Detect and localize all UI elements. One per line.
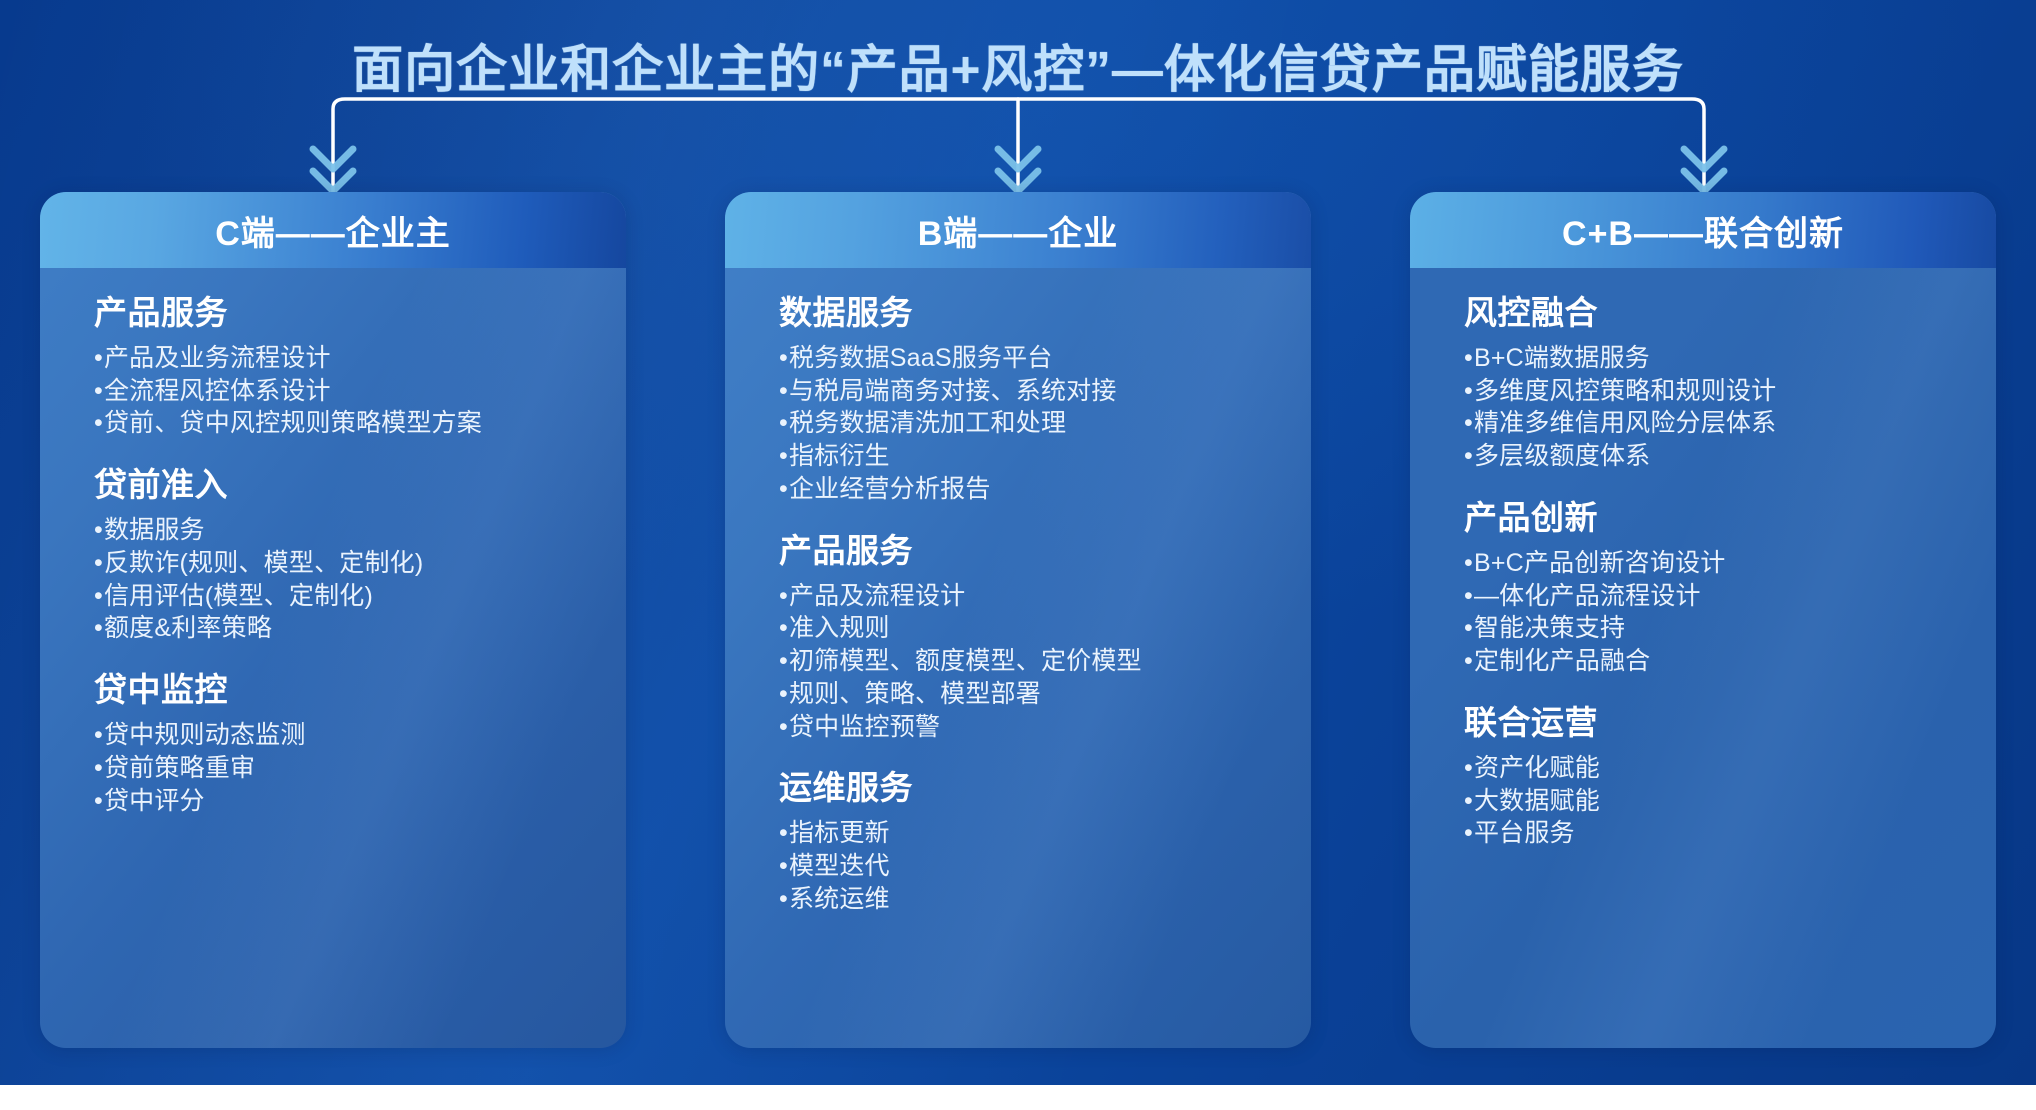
list-item: •B+C端数据服务 [1464, 342, 1996, 375]
list-item: •初筛模型、额度模型、定价模型 [779, 645, 1311, 678]
list-item-label: 额度&利率策略 [104, 614, 272, 642]
bullet-dot: • [94, 375, 103, 408]
list-item-label: 贷中规则动态监测 [104, 721, 306, 749]
list-item: •贷中评分 [94, 785, 626, 818]
bullet-dot: • [1464, 547, 1473, 580]
group-product-service: 产品服务 •产品及业务流程设计 •全流程风控体系设计 •贷前、贷中风控规则策略模… [94, 294, 626, 440]
card-header-title: B端——企业 [918, 206, 1119, 255]
list-item: •贷中规则动态监测 [94, 719, 626, 752]
card-b-end[interactable]: B端——企业 数据服务 •税务数据SaaS服务平台 •与税局端商务对接、系统对接… [725, 192, 1311, 1048]
bullet-dot: • [1464, 580, 1473, 613]
bullet-dot: • [779, 678, 788, 711]
list-item-label: 贷前策略重审 [104, 754, 255, 782]
bullet-dot: • [779, 407, 788, 440]
list-item: •全流程风控体系设计 [94, 375, 626, 408]
list-item: •规则、策略、模型部署 [779, 678, 1311, 711]
bullet-dot: • [94, 342, 103, 375]
list-item: •平台服务 [1464, 817, 1996, 850]
list-item: •反欺诈(规则、模型、定制化) [94, 547, 626, 580]
bullet-dot: • [1464, 645, 1473, 678]
list-item-label: —体化产品流程设计 [1474, 582, 1701, 610]
group-title: 产品服务 [94, 294, 626, 333]
list-item-label: 贷中评分 [104, 787, 205, 815]
group-pre-loan-access: 贷前准入 •数据服务 •反欺诈(规则、模型、定制化) •信用评估(模型、定制化)… [94, 466, 626, 645]
list-item-label: 多层级额度体系 [1474, 442, 1650, 470]
list-item: •B+C产品创新咨询设计 [1464, 547, 1996, 580]
list-item-label: 智能决策支持 [1474, 614, 1625, 642]
list-item: •智能决策支持 [1464, 612, 1996, 645]
list-item: •系统运维 [779, 883, 1311, 916]
group-ops-service: 运维服务 •指标更新 •模型迭代 •系统运维 [779, 769, 1311, 915]
card-c-plus-b[interactable]: C+B——联合创新 风控融合 •B+C端数据服务 •多维度风控策略和规则设计 •… [1410, 192, 1996, 1048]
list-item-label: 信用评估(模型、定制化) [104, 582, 373, 610]
list-item-label: B+C产品创新咨询设计 [1474, 549, 1726, 577]
list-item: •—体化产品流程设计 [1464, 580, 1996, 613]
list-item-label: 资产化赋能 [1474, 754, 1600, 782]
bullet-dot: • [779, 817, 788, 850]
list-item-label: 数据服务 [104, 516, 205, 544]
list-item: •贷中监控预警 [779, 711, 1311, 744]
list-item: •产品及流程设计 [779, 580, 1311, 613]
list-item: •指标衍生 [779, 440, 1311, 473]
list-item-label: 税务数据SaaS服务平台 [789, 344, 1053, 372]
group-data-service: 数据服务 •税务数据SaaS服务平台 •与税局端商务对接、系统对接 •税务数据清… [779, 294, 1311, 506]
bullet-dot: • [779, 711, 788, 744]
bullet-dot: • [94, 785, 103, 818]
card-header-title: C+B——联合创新 [1562, 206, 1844, 255]
card-body-c-end: 产品服务 •产品及业务流程设计 •全流程风控体系设计 •贷前、贷中风控规则策略模… [40, 268, 626, 817]
bottom-white-strip [0, 1085, 2036, 1110]
bullet-dot: • [779, 473, 788, 506]
list-item: •精准多维信用风险分层体系 [1464, 407, 1996, 440]
list-item-label: 企业经营分析报告 [789, 475, 991, 503]
list-item: •定制化产品融合 [1464, 645, 1996, 678]
group-title: 贷中监控 [94, 671, 626, 710]
list-item-label: 税务数据清洗加工和处理 [789, 409, 1066, 437]
bullet-list: •数据服务 •反欺诈(规则、模型、定制化) •信用评估(模型、定制化) •额度&… [94, 514, 626, 645]
bullet-dot: • [94, 752, 103, 785]
list-item-label: 与税局端商务对接、系统对接 [789, 377, 1117, 405]
list-item: •额度&利率策略 [94, 612, 626, 645]
bullet-list: •指标更新 •模型迭代 •系统运维 [779, 817, 1311, 915]
list-item-label: B+C端数据服务 [1474, 344, 1650, 372]
card-header-title: C端——企业主 [215, 206, 451, 255]
list-item: •准入规则 [779, 612, 1311, 645]
list-item-label: 反欺诈(规则、模型、定制化) [104, 549, 423, 577]
list-item-label: 指标更新 [789, 819, 890, 847]
list-item: •贷前、贷中风控规则策略模型方案 [94, 407, 626, 440]
group-title: 产品服务 [779, 532, 1311, 571]
list-item-label: 精准多维信用风险分层体系 [1474, 409, 1776, 437]
bullet-dot: • [94, 612, 103, 645]
bullet-dot: • [94, 580, 103, 613]
card-header-c-end: C端——企业主 [40, 192, 626, 268]
list-item: •指标更新 [779, 817, 1311, 850]
bullet-dot: • [779, 850, 788, 883]
bullet-dot: • [1464, 407, 1473, 440]
list-item: •数据服务 [94, 514, 626, 547]
card-header-b-end: B端——企业 [725, 192, 1311, 268]
list-item-label: 全流程风控体系设计 [104, 377, 331, 405]
list-item-label: 初筛模型、额度模型、定价模型 [789, 647, 1142, 675]
bullet-list: •B+C产品创新咨询设计 •—体化产品流程设计 •智能决策支持 •定制化产品融合 [1464, 547, 1996, 678]
bullet-dot: • [779, 440, 788, 473]
bullet-dot: • [779, 580, 788, 613]
bullet-list: •B+C端数据服务 •多维度风控策略和规则设计 •精准多维信用风险分层体系 •多… [1464, 342, 1996, 473]
bullet-dot: • [1464, 342, 1473, 375]
list-item: •多层级额度体系 [1464, 440, 1996, 473]
bullet-dot: • [779, 883, 788, 916]
group-title: 运维服务 [779, 769, 1311, 808]
group-joint-operation: 联合运营 •资产化赋能 •大数据赋能 •平台服务 [1464, 704, 1996, 850]
slide-root: 面向企业和企业主的“产品+风控”—体化信贷产品赋能服务 [0, 0, 2036, 1110]
group-title: 风控融合 [1464, 294, 1996, 333]
card-c-end[interactable]: C端——企业主 产品服务 •产品及业务流程设计 •全流程风控体系设计 •贷前、贷… [40, 192, 626, 1048]
bullet-dot: • [1464, 612, 1473, 645]
bullet-dot: • [1464, 785, 1473, 818]
list-item: •模型迭代 [779, 850, 1311, 883]
list-item-label: 模型迭代 [789, 852, 890, 880]
list-item: •大数据赋能 [1464, 785, 1996, 818]
list-item-label: 产品及流程设计 [789, 582, 965, 610]
list-item-label: 平台服务 [1474, 819, 1575, 847]
bullet-dot: • [94, 514, 103, 547]
list-item-label: 贷中监控预警 [789, 713, 940, 741]
bullet-dot: • [1464, 752, 1473, 785]
list-item: •贷前策略重审 [94, 752, 626, 785]
group-in-loan-monitoring: 贷中监控 •贷中规则动态监测 •贷前策略重审 •贷中评分 [94, 671, 626, 817]
bullet-dot: • [94, 719, 103, 752]
bullet-list: •税务数据SaaS服务平台 •与税局端商务对接、系统对接 •税务数据清洗加工和处… [779, 342, 1311, 506]
card-header-c-plus-b: C+B——联合创新 [1410, 192, 1996, 268]
list-item: •信用评估(模型、定制化) [94, 580, 626, 613]
card-body-c-plus-b: 风控融合 •B+C端数据服务 •多维度风控策略和规则设计 •精准多维信用风险分层… [1410, 268, 1996, 850]
list-item: •多维度风控策略和规则设计 [1464, 375, 1996, 408]
bullet-dot: • [94, 407, 103, 440]
list-item-label: 定制化产品融合 [1474, 647, 1650, 675]
bullet-list: •资产化赋能 •大数据赋能 •平台服务 [1464, 752, 1996, 850]
group-title: 贷前准入 [94, 466, 626, 505]
card-body-b-end: 数据服务 •税务数据SaaS服务平台 •与税局端商务对接、系统对接 •税务数据清… [725, 268, 1311, 916]
bullet-dot: • [1464, 817, 1473, 850]
list-item: •资产化赋能 [1464, 752, 1996, 785]
list-item: •税务数据SaaS服务平台 [779, 342, 1311, 375]
list-item-label: 贷前、贷中风控规则策略模型方案 [104, 409, 482, 437]
list-item-label: 系统运维 [789, 885, 890, 913]
bullet-dot: • [779, 342, 788, 375]
bullet-list: •产品及流程设计 •准入规则 •初筛模型、额度模型、定价模型 •规则、策略、模型… [779, 580, 1311, 744]
group-title: 数据服务 [779, 294, 1311, 333]
group-product-service: 产品服务 •产品及流程设计 •准入规则 •初筛模型、额度模型、定价模型 •规则、… [779, 532, 1311, 744]
bullet-dot: • [779, 375, 788, 408]
cards-container: C端——企业主 产品服务 •产品及业务流程设计 •全流程风控体系设计 •贷前、贷… [0, 192, 2036, 1052]
bullet-list: •产品及业务流程设计 •全流程风控体系设计 •贷前、贷中风控规则策略模型方案 [94, 342, 626, 440]
list-item: •企业经营分析报告 [779, 473, 1311, 506]
list-item: •税务数据清洗加工和处理 [779, 407, 1311, 440]
list-item-label: 准入规则 [789, 614, 890, 642]
list-item: •产品及业务流程设计 [94, 342, 626, 375]
list-item-label: 多维度风控策略和规则设计 [1474, 377, 1776, 405]
list-item-label: 指标衍生 [789, 442, 890, 470]
list-item-label: 大数据赋能 [1474, 787, 1600, 815]
list-item-label: 产品及业务流程设计 [104, 344, 331, 372]
bullet-dot: • [779, 645, 788, 678]
page-title: 面向企业和企业主的“产品+风控”—体化信贷产品赋能服务 [0, 28, 2036, 102]
list-item-label: 规则、策略、模型部署 [789, 680, 1041, 708]
list-item: •与税局端商务对接、系统对接 [779, 375, 1311, 408]
bullet-dot: • [779, 612, 788, 645]
group-title: 联合运营 [1464, 704, 1996, 743]
bullet-dot: • [1464, 375, 1473, 408]
group-product-innovation: 产品创新 •B+C产品创新咨询设计 •—体化产品流程设计 •智能决策支持 •定制… [1464, 499, 1996, 678]
group-risk-fusion: 风控融合 •B+C端数据服务 •多维度风控策略和规则设计 •精准多维信用风险分层… [1464, 294, 1996, 473]
bullet-dot: • [1464, 440, 1473, 473]
group-title: 产品创新 [1464, 499, 1996, 538]
bullet-dot: • [94, 547, 103, 580]
bullet-list: •贷中规则动态监测 •贷前策略重审 •贷中评分 [94, 719, 626, 817]
